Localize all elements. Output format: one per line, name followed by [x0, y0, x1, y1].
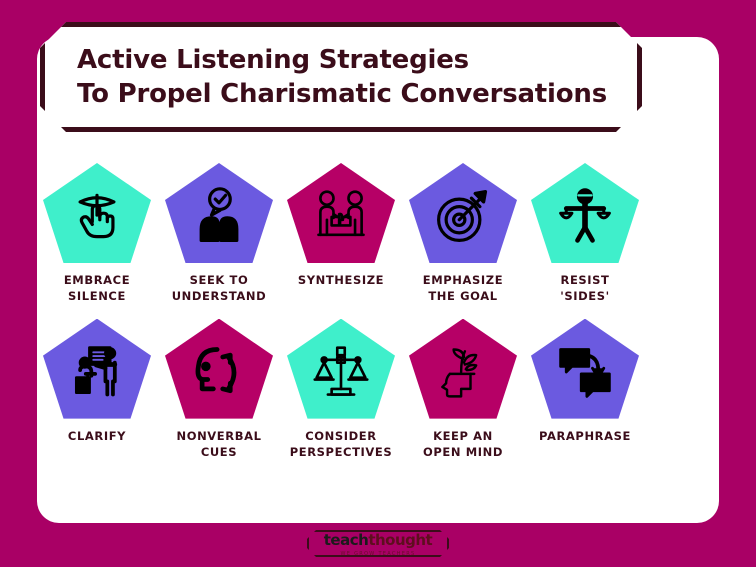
strategy-card-embrace-silence[interactable]: EMBRACE SILENCE: [40, 163, 154, 305]
strategy-grid: EMBRACE SILENCE SEEK TO UNDERSTAND: [40, 163, 642, 460]
strategy-label: CONSIDER PERSPECTIVES: [290, 428, 393, 461]
strategy-card-consider-perspectives[interactable]: CONSIDER PERSPECTIVES: [284, 319, 398, 461]
two-heads-speech-bubble-check-icon: [189, 186, 249, 246]
logo-tagline: WE GROW TEACHERS: [341, 551, 416, 557]
page-title-line-2: To Propel Charismatic Conversations: [77, 77, 637, 111]
pentagon-badge: [531, 163, 639, 263]
pentagon-badge: [43, 319, 151, 419]
strategy-card-seek-to-understand[interactable]: SEEK TO UNDERSTAND: [162, 163, 276, 305]
pentagon-badge: [165, 163, 273, 263]
strategy-row-2: CLARIFY NONVERBAL CUES: [40, 319, 642, 461]
person-holding-scales-icon: [555, 186, 615, 246]
balance-scales-icon: [311, 342, 371, 402]
strategy-card-resist-sides[interactable]: RESIST 'SIDES': [528, 163, 642, 305]
pentagon-badge: [409, 163, 517, 263]
pentagon-badge: [409, 319, 517, 419]
pentagon-badge: [287, 319, 395, 419]
strategy-card-synthesize[interactable]: SYNTHESIZE: [284, 163, 398, 305]
pentagon-badge: [287, 163, 395, 263]
strategy-card-nonverbal-cues[interactable]: NONVERBAL CUES: [162, 319, 276, 461]
face-profile-arrow-icon: [189, 342, 249, 402]
strategy-label: SYNTHESIZE: [298, 272, 384, 288]
page-title-line-1: Active Listening Strategies: [77, 43, 637, 77]
head-with-plant-icon: [433, 342, 493, 402]
finger-to-lips-icon: [67, 186, 127, 246]
strategy-label: NONVERBAL CUES: [176, 428, 261, 461]
two-speech-bubbles-arrow-icon: [555, 342, 615, 402]
strategy-label: RESIST 'SIDES': [560, 272, 610, 305]
strategy-card-emphasize-the-goal[interactable]: EMPHASIZE THE GOAL: [406, 163, 520, 305]
strategy-label: KEEP AN OPEN MIND: [423, 428, 503, 461]
strategy-card-paraphrase[interactable]: PARAPHRASE: [528, 319, 642, 461]
teachthought-logo[interactable]: teachthought WE GROW TEACHERS: [307, 530, 449, 557]
presenter-whiteboard-icon: [67, 342, 127, 402]
strategy-card-clarify[interactable]: CLARIFY: [40, 319, 154, 461]
logo-word-teach: teach: [324, 531, 369, 549]
strategy-card-keep-an-open-mind[interactable]: KEEP AN OPEN MIND: [406, 319, 520, 461]
pentagon-badge: [165, 319, 273, 419]
two-people-puzzle-pieces-icon: [311, 186, 371, 246]
strategy-label: EMPHASIZE THE GOAL: [423, 272, 503, 305]
pentagon-badge: [531, 319, 639, 419]
strategy-label: CLARIFY: [68, 428, 126, 444]
logo-word-thought: thought: [368, 531, 432, 549]
title-banner: Active Listening Strategies To Propel Ch…: [40, 22, 642, 132]
target-dart-icon: [433, 186, 493, 246]
strategy-label: EMBRACE SILENCE: [64, 272, 130, 305]
strategy-label: SEEK TO UNDERSTAND: [172, 272, 267, 305]
strategy-row-1: EMBRACE SILENCE SEEK TO UNDERSTAND: [40, 163, 642, 305]
pentagon-badge: [43, 163, 151, 263]
strategy-label: PARAPHRASE: [539, 428, 631, 444]
logo-wordmark: teachthought: [324, 530, 432, 549]
